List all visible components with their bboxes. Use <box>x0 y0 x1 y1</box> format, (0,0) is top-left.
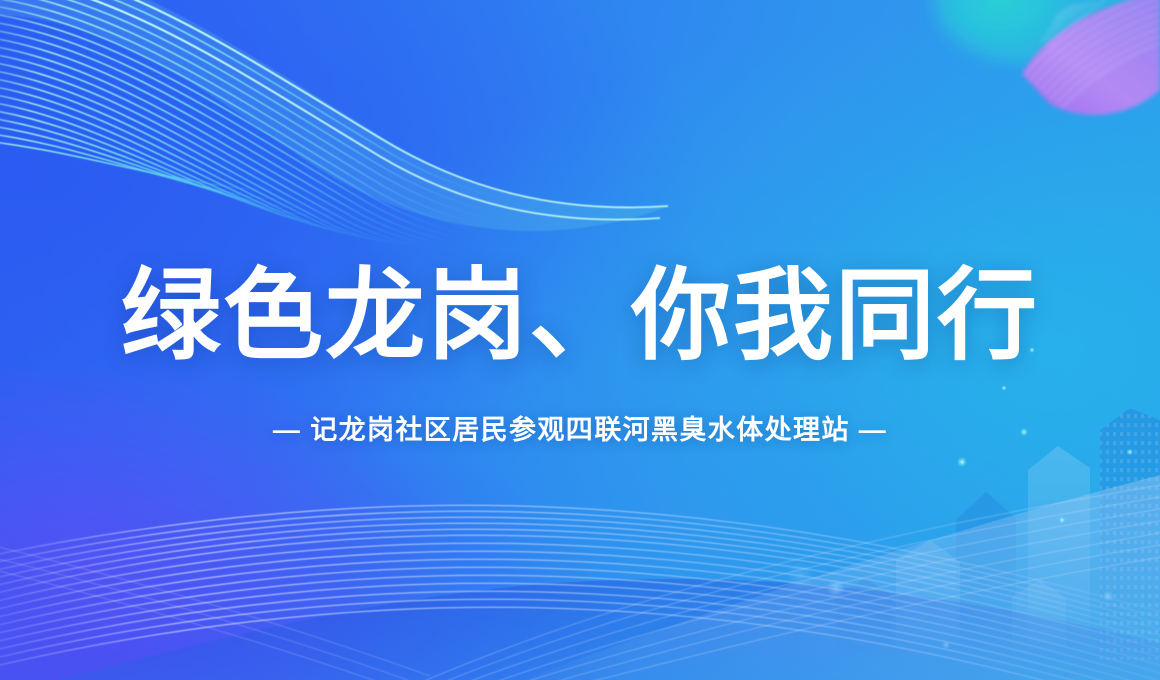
headline-block: 绿色龙岗、你我同行 — 记龙岗社区居民参观四联河黑臭水体处理站 — <box>0 262 1160 447</box>
page-title: 绿色龙岗、你我同行 <box>0 262 1160 370</box>
poster-banner: 绿色龙岗、你我同行 — 记龙岗社区居民参观四联河黑臭水体处理站 — <box>0 0 1160 680</box>
page-subtitle: — 记龙岗社区居民参观四联河黑臭水体处理站 — <box>0 408 1160 447</box>
